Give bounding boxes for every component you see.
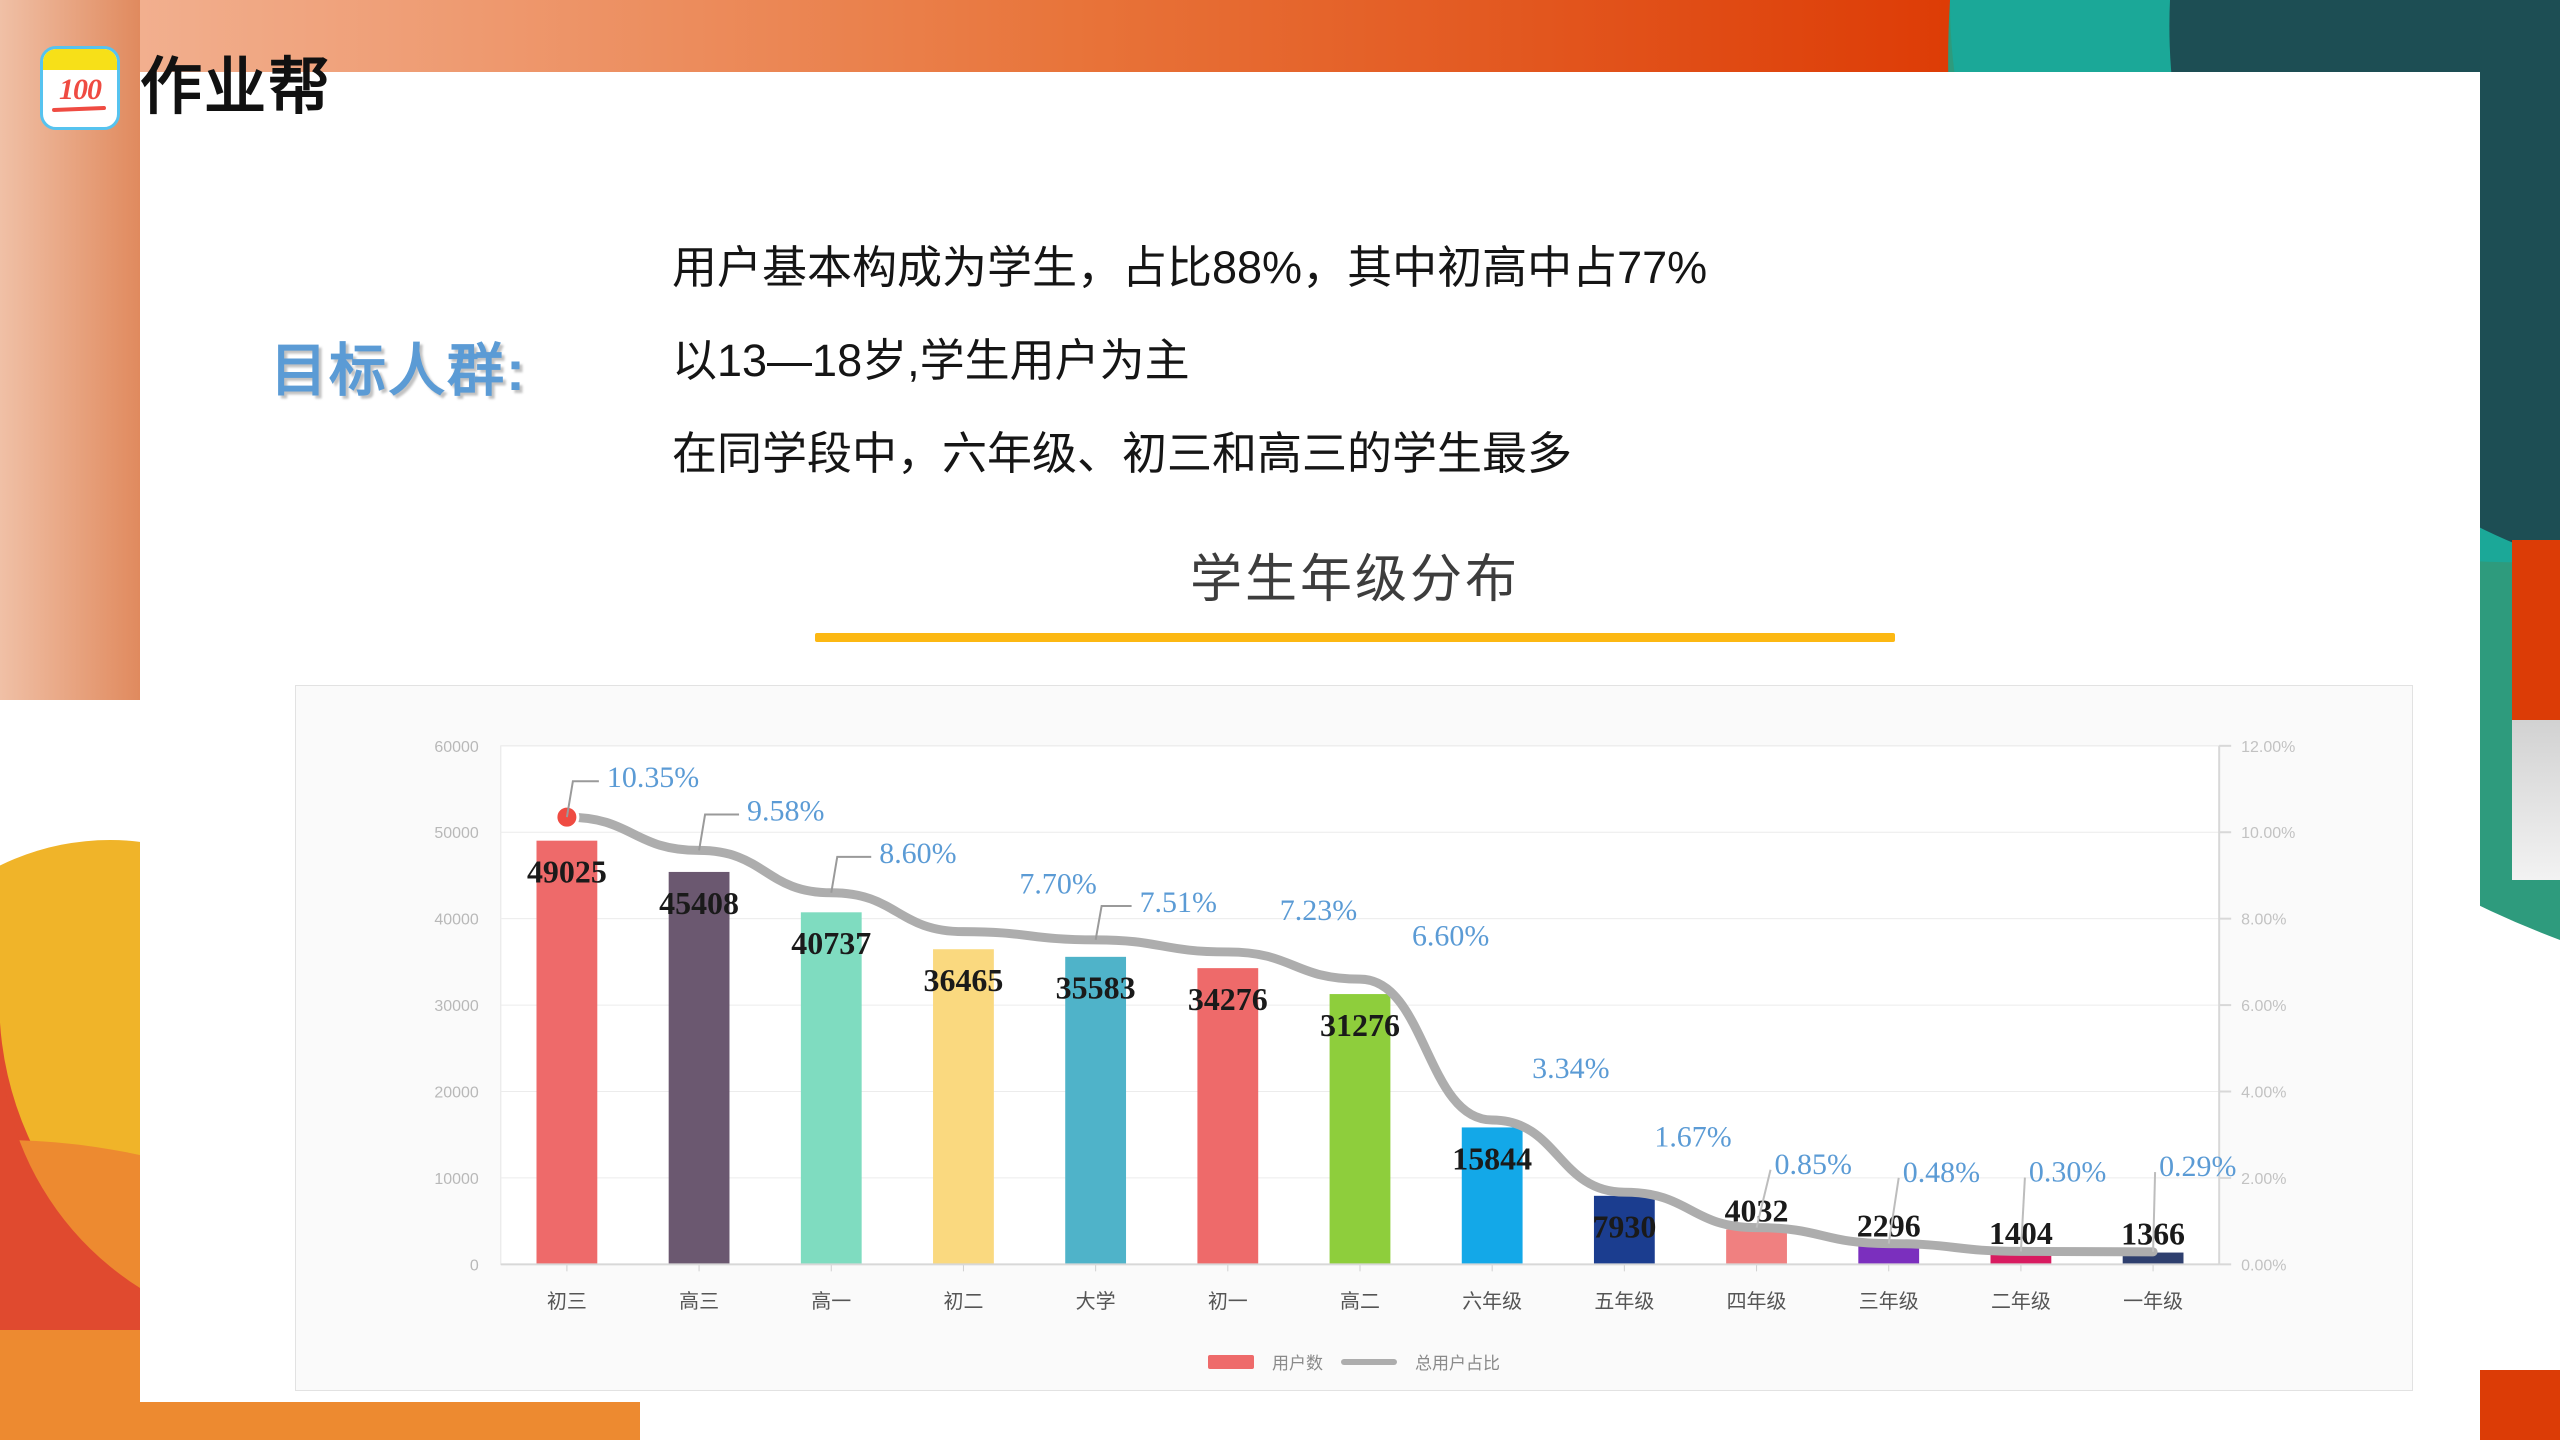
percentage-label-六年级: 3.34%	[1532, 1052, 1609, 1085]
chart-legend: 用户数 总用户占比	[296, 1349, 2412, 1374]
y-axis-left-tick: 0	[470, 1257, 479, 1274]
legend-swatch-bar	[1208, 1355, 1254, 1369]
x-axis-label-二年级: 二年级	[1991, 1290, 2051, 1313]
bar-value-label: 35583	[1056, 971, 1136, 1006]
legend-swatch-line	[1341, 1359, 1397, 1365]
y-axis-right-tick: 12.00%	[2241, 739, 2295, 756]
y-axis-right-tick: 0.00%	[2241, 1257, 2286, 1274]
bar-高一[interactable]	[801, 912, 862, 1264]
bar-value-label: 49025	[527, 855, 607, 890]
percentage-label-初二: 7.70%	[1019, 868, 1096, 901]
chart-title-rule	[815, 633, 1895, 642]
notebook-100-icon: 100	[40, 46, 120, 130]
percentage-label-五年级: 1.67%	[1654, 1120, 1731, 1153]
percentage-label-大学: 7.51%	[1140, 886, 1217, 919]
brand-header: 100 作业帮	[40, 46, 332, 130]
x-axis-label-高二: 高二	[1340, 1290, 1380, 1313]
headline-line-1: 用户基本构成为学生，占比88%，其中初高中占77%	[672, 245, 1707, 290]
bar-value-label: 15844	[1452, 1141, 1532, 1176]
y-axis-left-tick: 30000	[434, 998, 479, 1015]
right-gray-block	[2512, 720, 2560, 880]
headline-lines: 用户基本构成为学生，占比88%，其中初高中占77% 以13—18岁,学生用户为主…	[672, 245, 1707, 524]
chart-panel: 学生年级分布 01000020000300004000050000600000.…	[295, 545, 2415, 1395]
x-axis-label-初二: 初二	[943, 1290, 983, 1313]
percentage-label-三年级: 0.48%	[1903, 1156, 1980, 1189]
x-axis-label-五年级: 五年级	[1594, 1290, 1654, 1313]
y-axis-left-tick: 50000	[434, 825, 479, 842]
grade-distribution-chart: 01000020000300004000050000600000.00%2.00…	[296, 686, 2412, 1390]
percentage-label-一年级: 0.29%	[2159, 1150, 2236, 1183]
x-axis-label-大学: 大学	[1076, 1290, 1116, 1313]
x-axis-label-高三: 高三	[679, 1290, 719, 1313]
bar-value-label: 34276	[1188, 982, 1268, 1017]
bar-value-label: 45408	[659, 886, 739, 921]
x-axis-label-三年级: 三年级	[1859, 1290, 1919, 1313]
headline-line-2: 以13—18岁,学生用户为主	[672, 338, 1707, 383]
chart-canvas: 01000020000300004000050000600000.00%2.00…	[295, 685, 2413, 1391]
x-axis-label-一年级: 一年级	[2123, 1290, 2183, 1313]
chart-title: 学生年级分布	[295, 545, 2415, 611]
logo-cap	[43, 49, 117, 70]
x-axis-label-初三: 初三	[547, 1290, 587, 1313]
y-axis-right-tick: 10.00%	[2241, 825, 2295, 842]
bar-四年级[interactable]	[1726, 1230, 1787, 1265]
logo-100-text: 100	[43, 73, 117, 107]
percentage-label-高二: 6.60%	[1412, 919, 1489, 952]
percentage-label-高一: 8.60%	[879, 837, 956, 870]
y-axis-left-tick: 10000	[434, 1171, 479, 1188]
percentage-label-高三: 9.58%	[747, 795, 824, 828]
logo-underline	[52, 106, 106, 112]
bottom-left-orange-tail	[0, 1402, 140, 1440]
percentage-label-初一: 7.23%	[1280, 894, 1357, 927]
y-axis-left-tick: 40000	[434, 912, 479, 929]
legend-label-line: 总用户占比	[1415, 1349, 1500, 1374]
bar-value-label: 36465	[924, 963, 1004, 998]
percentage-label-四年级: 0.85%	[1775, 1148, 1852, 1181]
y-axis-right-tick: 2.00%	[2241, 1171, 2286, 1188]
percentage-label-初三: 10.35%	[607, 761, 699, 794]
legend-label-bar: 用户数	[1272, 1349, 1323, 1374]
percentage-label-二年级: 0.30%	[2029, 1156, 2106, 1189]
bar-value-label: 40737	[791, 926, 871, 961]
bar-初三[interactable]	[536, 841, 597, 1265]
y-axis-right-tick: 4.00%	[2241, 1085, 2286, 1102]
bar-value-label: 7930	[1592, 1210, 1656, 1245]
right-orange-block	[2512, 540, 2560, 720]
target-audience-label: 目标人群:	[270, 325, 527, 407]
y-axis-right-tick: 6.00%	[2241, 998, 2286, 1015]
x-axis-label-高一: 高一	[811, 1290, 851, 1313]
bottom-right-orange-block	[2480, 1370, 2560, 1440]
x-axis-label-四年级: 四年级	[1727, 1290, 1787, 1313]
x-axis-label-六年级: 六年级	[1462, 1290, 1522, 1313]
y-axis-right-tick: 8.00%	[2241, 912, 2286, 929]
y-axis-left-tick: 60000	[434, 739, 479, 756]
brand-name: 作业帮	[140, 57, 332, 119]
x-axis-label-初一: 初一	[1208, 1290, 1248, 1313]
bar-高三[interactable]	[669, 872, 730, 1264]
bar-value-label: 31276	[1320, 1008, 1400, 1043]
y-axis-left-tick: 20000	[434, 1085, 479, 1102]
headline-line-3: 在同学段中，六年级、初三和高三的学生最多	[672, 431, 1707, 476]
